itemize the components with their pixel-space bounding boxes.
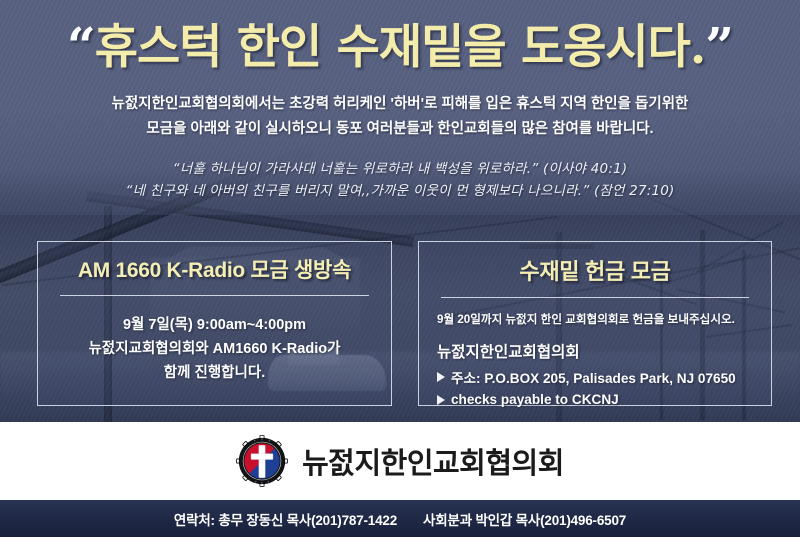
panel-radio-heading: AM 1660 K-Radio 모금 생방속 <box>38 254 391 284</box>
intro-line-2: 모금을 아래와 같이 실시하오니 동포 여러분들과 한인교회들의 많은 참여를 … <box>30 117 770 142</box>
organization-name: 뉴젌지한인교회협의회 <box>302 440 564 482</box>
panel-donation-body: 9월 20일까지 뉴젌지 한인 교회협의회로 헌금을 보내주십시오. 뉴젌지한인… <box>419 312 771 407</box>
scripture-verses: “너훌 하나님이 가라사대 너훌는 위로하라 내 백성을 위로하라.” (이사야… <box>40 158 760 202</box>
poster-root: “휴스턱 한인 수재밑을 도옹시다.” 뉴젌지한인교회협의회에서는 초강력 허리… <box>0 0 800 537</box>
footer-contact-1: 총무 장동신 목사(201)787-1422 <box>218 513 397 528</box>
panel-donation-address: 주소: P.O.BOX 205, Palisades Park, NJ 0765… <box>451 367 736 387</box>
intro-paragraph: 뉴젌지한인교회협의회에서는 초강력 허리케인 '하버'로 피해를 입은 휴스턱 … <box>30 92 770 142</box>
panel-donation-item: checks payable to CKCNJ <box>437 392 753 407</box>
panel-donation-heading: 수재밑 헌금 모금 <box>419 254 771 286</box>
cross-emblem-icon <box>236 435 288 487</box>
panel-donation-divider <box>441 297 749 298</box>
panel-radio-divider <box>60 295 369 296</box>
footer-contacts: 연락처: 총무 장동신 목사(201)787-1422사회분과 박인갑 목사(2… <box>174 509 626 529</box>
close-quote: ” <box>705 16 733 75</box>
poster-title: “휴스턱 한인 수재밑을 도옹시다.” <box>0 8 800 77</box>
verse-line-2: “네 친구와 네 아버의 친구를 버리지 말여,,가까운 이웃이 먼 형제보다 … <box>40 180 760 202</box>
open-quote: “ <box>67 16 95 75</box>
footer-contact-2: 사회분과 박인갑 목사(201)496-6507 <box>423 513 626 528</box>
verse-line-1: “너훌 하나님이 가라사대 너훌는 위로하라 내 백성을 위로하라.” (이사야… <box>40 158 760 180</box>
panel-donation-org: 뉴젌지한인교회협의회 <box>437 340 753 362</box>
panel-donation-checks: checks payable to CKCNJ <box>451 392 619 407</box>
panel-radio-line-3: 함께 진행합니다. <box>38 361 391 385</box>
triangle-bullet-icon <box>437 372 445 382</box>
panel-radio-line-2: 뉴젌지교회협의회와 AM1660 K-Radio가 <box>38 337 391 361</box>
triangle-bullet-icon <box>437 395 445 405</box>
panel-radio-broadcast: AM 1660 K-Radio 모금 생방속 9월 7일(목) 9:00am~4… <box>37 241 392 406</box>
logo-band: 뉴젌지한인교회협의회 <box>0 422 800 500</box>
footer-label: 연락처: <box>174 513 215 528</box>
panel-radio-body: 9월 7일(목) 9:00am~4:00pm 뉴젌지교회협의회와 AM1660 … <box>38 313 391 385</box>
panel-donation: 수재밑 헌금 모금 9월 20일까지 뉴젌지 한인 교회협의회로 헌금을 보내주… <box>418 241 772 406</box>
panel-radio-line-1: 9월 7일(목) 9:00am~4:00pm <box>38 313 391 337</box>
ckcnj-logo <box>236 435 288 487</box>
panel-donation-note: 9월 20일까지 뉴젌지 한인 교회협의회로 헌금을 보내주십시오. <box>437 312 753 328</box>
panel-donation-item: 주소: P.O.BOX 205, Palisades Park, NJ 0765… <box>437 367 753 387</box>
poster-title-text: 휴스턱 한인 수재밑을 도옹시다. <box>95 20 706 75</box>
intro-line-1: 뉴젌지한인교회협의회에서는 초강력 허리케인 '하버'로 피해를 입은 휴스턱 … <box>30 92 770 117</box>
footer-bar: 연락처: 총무 장동신 목사(201)787-1422사회분과 박인갑 목사(2… <box>0 500 800 537</box>
